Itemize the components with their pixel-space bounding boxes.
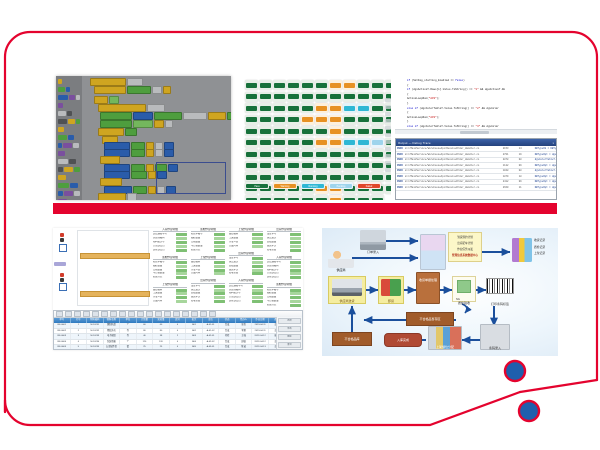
log-path: src/MainService/WarehouseApi/ReceiveOrde… (405, 163, 501, 168)
palette-item[interactable] (58, 190, 80, 196)
status-cell[interactable] (357, 195, 370, 200)
status-cell[interactable] (259, 126, 272, 136)
flow-node-label: 供应商送货 (339, 299, 354, 303)
status-cell[interactable] (245, 195, 258, 200)
note-label: 上架数量 (153, 292, 175, 295)
status-cell[interactable] (287, 80, 300, 90)
table-cell: 张伟 (236, 323, 253, 328)
status-cell[interactable] (245, 92, 258, 102)
status-cell-bar (246, 117, 257, 122)
note-group-header: 质检作业明细 (267, 283, 301, 287)
status-cell[interactable] (329, 103, 342, 113)
table-cell: 60 (137, 323, 154, 328)
status-cell[interactable] (329, 195, 342, 200)
status-cell[interactable] (273, 195, 286, 200)
status-cell[interactable] (329, 126, 342, 136)
export-icon[interactable] (182, 311, 189, 318)
table-cell: 完成 (219, 345, 236, 350)
status-cell[interactable] (245, 126, 258, 136)
log-tag: INFO (397, 152, 403, 157)
status-cell[interactable] (315, 161, 328, 171)
block-statement[interactable] (94, 86, 171, 94)
status-cell[interactable] (371, 115, 384, 125)
note-value-chip (176, 233, 187, 236)
block-statement[interactable] (100, 120, 173, 128)
palette-item[interactable] (58, 102, 80, 108)
note-group-header: 上架作业明细 (229, 228, 263, 232)
status-cell[interactable] (329, 172, 342, 182)
status-cell[interactable] (357, 172, 370, 182)
log-row[interactable]: INFOsrc/MainService/WarehouseApi/Receive… (396, 152, 556, 157)
status-cell[interactable] (371, 126, 384, 136)
status-cell[interactable] (315, 115, 328, 125)
print-icon[interactable] (83, 311, 90, 318)
palette-swatch (58, 135, 67, 140)
grid-side-tick (385, 98, 391, 102)
status-cell[interactable] (315, 172, 328, 182)
log-separator (396, 190, 556, 191)
status-cell[interactable] (371, 103, 384, 113)
status-cell-bar (288, 140, 299, 145)
note-value-chip (176, 296, 187, 299)
note-value-chip (252, 292, 263, 295)
block-chip (154, 112, 182, 120)
table-cell: 个 (120, 323, 137, 328)
status-cell-bar (274, 140, 285, 145)
table-cell: B04 (186, 340, 203, 345)
status-cell[interactable] (315, 92, 328, 102)
rail-marker-icon (60, 273, 64, 277)
note-group: 出库作业明细出库单号拣货波次复核数量发运车次签收状态 (191, 279, 225, 303)
status-cell-bar (260, 152, 271, 157)
palette-item[interactable] (58, 142, 80, 148)
status-cell[interactable] (357, 149, 370, 159)
filter-icon[interactable] (137, 311, 144, 318)
status-cell-bar (260, 198, 271, 201)
server-icon (420, 234, 446, 270)
log-path: src/MainService/WarehouseApi/ReceiveOrde… (405, 168, 501, 173)
block-chip (146, 149, 154, 157)
status-cell[interactable] (273, 115, 286, 125)
log-row[interactable]: INFOsrc/MainService/WarehouseApi/Receive… (396, 185, 556, 190)
table-cell: 钢制托盘 (104, 323, 121, 328)
note-group-header: 出库作业明细 (191, 279, 225, 283)
palette-item[interactable] (58, 86, 80, 92)
note-value-chip (176, 241, 187, 244)
status-cell[interactable] (357, 138, 370, 148)
note-row: 复核数量 (191, 292, 225, 295)
note-label: 供应商编码 (267, 265, 289, 268)
palette-swatch (67, 111, 72, 116)
block-chip (94, 86, 126, 94)
note-row: 物料批次号 (229, 292, 263, 295)
status-cell[interactable] (385, 195, 391, 200)
log-tag: INFO (397, 185, 403, 190)
palette-item[interactable] (58, 150, 80, 156)
palette-item[interactable] (58, 94, 80, 100)
table-cell: M-10234 (87, 340, 104, 345)
note-label: 物料批次号 (229, 292, 251, 295)
status-cell-bar (344, 117, 355, 122)
status-cell-bar (274, 106, 285, 111)
table-cell: B03 (186, 334, 203, 339)
barcode-icon (486, 278, 514, 294)
status-cell[interactable] (315, 138, 328, 148)
find-icon[interactable] (164, 311, 171, 318)
legend-label: Warning (274, 185, 296, 189)
note-row: 到货通知单号 (267, 261, 301, 264)
status-cell[interactable] (287, 161, 300, 171)
table-cell: 待检 (219, 334, 236, 339)
note-label: 完成时间 (191, 272, 213, 275)
status-cell[interactable] (371, 161, 384, 171)
note-value-chip (214, 237, 225, 240)
flow-node-supplier: 供应商 (328, 246, 354, 268)
flow-node-barcode-scan: 条码录入 (480, 324, 510, 350)
status-cell[interactable] (301, 103, 314, 113)
status-cell-bar (358, 198, 369, 201)
log-window-titlebar: Output — Debug Trace x (396, 139, 556, 146)
status-cell-bar (344, 129, 355, 134)
code-horizontal-scrollbar[interactable] (395, 129, 557, 134)
status-cell[interactable] (259, 161, 272, 171)
status-cell[interactable] (245, 161, 258, 171)
note-value-chip (252, 289, 263, 292)
status-cell[interactable] (343, 172, 356, 182)
note-row: 到货通知单号 (229, 285, 263, 288)
status-cell[interactable] (287, 149, 300, 159)
table-row[interactable]: RK-00055M-10235五金配件组套25250B05A-03-01完成陈诚… (54, 345, 302, 350)
note-label: 储位编码 (191, 261, 213, 264)
log-message: DBTypeOpt = dgvColorTableT.getIndexRow.T… (535, 185, 557, 190)
gantt-bar[interactable] (80, 291, 150, 297)
save-record-icon[interactable] (74, 311, 81, 318)
status-cell[interactable] (245, 80, 258, 90)
status-cell[interactable] (301, 195, 314, 200)
sort-asc-icon[interactable] (146, 311, 153, 318)
palette-swatch (58, 143, 62, 148)
status-cell[interactable] (357, 80, 370, 90)
status-cell[interactable] (301, 80, 314, 90)
note-row: 出库单号 (191, 285, 225, 288)
note-label: 发运车次 (267, 245, 289, 248)
status-cell-bar (316, 152, 327, 157)
cut-icon[interactable] (92, 311, 99, 318)
status-cell[interactable] (287, 195, 300, 200)
status-cell[interactable] (259, 92, 272, 102)
refresh-icon[interactable] (173, 311, 180, 318)
status-cell[interactable] (329, 149, 342, 159)
help-icon[interactable] (209, 311, 216, 318)
note-value-chip (290, 233, 301, 236)
note-row: 不合格数量 (191, 245, 225, 248)
status-cell[interactable] (301, 126, 314, 136)
log-row[interactable]: INFOsrc/MainService/WarehouseApi/Receive… (396, 179, 556, 184)
note-row: 拣货波次 (229, 261, 263, 264)
palette-item[interactable] (58, 118, 80, 124)
palette-item[interactable] (58, 126, 80, 132)
note-value-chip (252, 257, 263, 260)
paste-icon[interactable] (110, 311, 117, 318)
legend-label: Pending (330, 185, 352, 189)
status-cell[interactable] (371, 80, 384, 90)
table-cell: A-01-02 (203, 329, 220, 334)
table-cell: 套 (120, 345, 137, 350)
status-cell-bar (344, 175, 355, 180)
status-cell[interactable] (259, 115, 272, 125)
block-statement[interactable] (90, 78, 143, 86)
status-cell[interactable] (301, 115, 314, 125)
block-chip (98, 104, 146, 112)
status-cell[interactable] (371, 195, 384, 200)
status-cell[interactable] (273, 103, 286, 113)
status-cell[interactable] (315, 126, 328, 136)
status-cell[interactable] (273, 172, 286, 182)
status-cell[interactable] (371, 149, 384, 159)
table-side-button[interactable]: 删除 (278, 334, 301, 340)
block-statement[interactable] (98, 104, 165, 112)
status-cell[interactable] (245, 149, 258, 159)
note-value-chip (214, 300, 225, 303)
status-cell-bar (330, 152, 341, 157)
status-cell-bar (386, 83, 391, 88)
status-cell[interactable] (357, 161, 370, 171)
block-statement[interactable] (100, 178, 122, 186)
status-cell[interactable] (315, 195, 328, 200)
scrollbar-thumb[interactable] (460, 131, 489, 134)
status-cell[interactable] (301, 161, 314, 171)
status-cell[interactable] (329, 138, 342, 148)
palette-item[interactable] (58, 174, 80, 180)
status-cell[interactable] (273, 92, 286, 102)
status-cell[interactable] (259, 172, 272, 182)
grid-side-tick (385, 133, 391, 137)
status-cell-bar (372, 129, 383, 134)
table-cell: 4 (71, 340, 88, 345)
table-cell: M-10232 (87, 329, 104, 334)
note-value-chip (214, 269, 225, 272)
palette-item[interactable] (58, 134, 80, 140)
log-message: DBTypeOpt = dgvColorTableT.getIndexRow =… (535, 174, 557, 179)
status-cell[interactable] (329, 80, 342, 90)
status-cell[interactable] (259, 103, 272, 113)
status-cell-bar (358, 83, 369, 88)
status-cell[interactable] (329, 115, 342, 125)
status-cell[interactable] (273, 149, 286, 159)
status-cell[interactable] (301, 149, 314, 159)
status-cell[interactable] (343, 161, 356, 171)
gantt-grid (77, 230, 149, 306)
block-chip (100, 112, 132, 120)
status-cell[interactable] (259, 138, 272, 148)
status-cell-bar (288, 83, 299, 88)
computer-icon (360, 230, 386, 250)
status-cell[interactable] (301, 138, 314, 148)
status-cell[interactable] (287, 115, 300, 125)
palette-item[interactable] (58, 182, 80, 188)
status-cell[interactable] (301, 92, 314, 102)
log-row[interactable]: INFOsrc/MainService/WarehouseApi/Receive… (396, 163, 556, 168)
palette-item[interactable] (58, 158, 80, 164)
status-cell[interactable] (259, 195, 272, 200)
note-row: 物料批次号 (267, 269, 301, 272)
note-label: 合格数量 (191, 241, 213, 244)
log-message: dgvColorTableT.getIndexRow.ToValue = DBT… (535, 168, 557, 173)
status-cell[interactable] (245, 172, 258, 182)
status-cell-bar (330, 106, 341, 111)
log-row[interactable]: INFOsrc/MainService/WarehouseApi/Receive… (396, 174, 556, 179)
palette-item[interactable] (58, 198, 80, 200)
status-cell[interactable] (315, 103, 328, 113)
table-cell: 五金配件组 (104, 345, 121, 350)
note-label: 抽检数量 (191, 237, 213, 240)
status-cell-bar (288, 117, 299, 122)
settings-icon[interactable] (200, 311, 207, 318)
note-value-chip (252, 285, 263, 288)
status-cell[interactable] (273, 80, 286, 90)
new-record-icon[interactable] (56, 311, 63, 318)
gantt-bar[interactable] (80, 253, 150, 259)
status-cell-bar (274, 198, 285, 201)
log-tag: INFO (397, 146, 403, 151)
note-group: 入库作业明细到货通知单号供应商编码物料批次号计划到货日实际到货日 (229, 279, 263, 303)
close-icon[interactable]: x (553, 141, 554, 145)
palette-swatch (58, 183, 69, 188)
block-statement[interactable] (94, 96, 119, 104)
status-cell[interactable] (371, 92, 384, 102)
note-row: 出库单号 (267, 233, 301, 236)
block-statement[interactable] (98, 128, 137, 136)
redo-icon[interactable] (128, 311, 135, 318)
status-cell[interactable] (343, 138, 356, 148)
block-statement[interactable] (100, 156, 120, 164)
status-cell[interactable] (343, 126, 356, 136)
tag-item: 上架记录 (534, 251, 545, 255)
status-cell[interactable] (329, 92, 342, 102)
status-cell[interactable] (273, 138, 286, 148)
status-cell[interactable] (273, 126, 286, 136)
palette-item[interactable] (58, 78, 80, 84)
block-chip (90, 78, 126, 86)
table-cell: 60 (153, 323, 170, 328)
sort-desc-icon[interactable] (155, 311, 162, 318)
status-grid-side-ticks (385, 98, 391, 175)
status-cell[interactable] (245, 115, 258, 125)
flow-node-putaway: 上架储位分配 (428, 326, 462, 350)
status-cell[interactable] (385, 184, 391, 194)
status-cell[interactable] (259, 80, 272, 90)
undo-icon[interactable] (119, 311, 126, 318)
code-and-log-screenshot: if (SetImg_starting_Enabled == false){ i… (395, 76, 557, 200)
table-cell: 2 (71, 329, 88, 334)
block-statement[interactable] (98, 193, 137, 200)
status-cell-bar (260, 83, 271, 88)
table-cell: 2023-04-12 (252, 340, 269, 345)
status-cell[interactable] (385, 80, 391, 90)
status-cell-bar (344, 106, 355, 111)
status-cell[interactable] (315, 80, 328, 90)
table-side-button[interactable]: 查询 (278, 342, 301, 348)
status-cell[interactable] (343, 149, 356, 159)
note-row: 拣货波次 (191, 289, 225, 292)
tag-panel-archive: 收货记录 质检记录 上架记录 (534, 238, 545, 255)
table-cell: 25 (153, 345, 170, 350)
table-cell: 件 (120, 329, 137, 334)
status-cell[interactable] (287, 126, 300, 136)
status-cell[interactable] (371, 138, 384, 148)
status-cell-bar (358, 117, 369, 122)
status-cell-bar (372, 152, 383, 157)
table-side-button[interactable]: 新增 (278, 318, 301, 324)
status-cell[interactable] (357, 103, 370, 113)
status-cell[interactable] (343, 115, 356, 125)
status-cell[interactable] (371, 172, 384, 182)
table-cell: 电子模组 (104, 334, 121, 339)
status-cell[interactable] (329, 161, 342, 171)
status-cell[interactable] (343, 92, 356, 102)
delete-icon[interactable] (191, 311, 198, 318)
status-cell[interactable] (357, 115, 370, 125)
log-row[interactable]: INFOsrc/MainService/WarehouseApi/Receive… (396, 168, 556, 173)
palette-swatch (58, 79, 62, 84)
palette-swatch (58, 167, 63, 172)
status-cell[interactable] (343, 103, 356, 113)
legend-item: Failed (357, 182, 381, 189)
block-chip (127, 78, 143, 86)
status-cell[interactable] (357, 92, 370, 102)
open-record-icon[interactable] (65, 311, 72, 318)
status-cell[interactable] (343, 80, 356, 90)
status-cell[interactable] (245, 138, 258, 148)
status-cell[interactable] (343, 195, 356, 200)
status-cell[interactable] (301, 172, 314, 182)
log-row[interactable]: INFOsrc/MainService/WarehouseApi/Receive… (396, 157, 556, 162)
palette-item[interactable] (58, 110, 80, 116)
palette-item[interactable] (58, 166, 80, 172)
grid-side-tick (385, 105, 391, 109)
status-cell-bar (330, 140, 341, 145)
status-cell-bar (358, 175, 369, 180)
table-cell: 0 (170, 345, 187, 350)
log-row[interactable]: INFOsrc/MainService/WarehouseApi/Receive… (396, 146, 556, 151)
status-cell-bar (358, 163, 369, 168)
blocks-canvas (82, 76, 231, 200)
grid-side-tick (385, 154, 391, 158)
status-cell[interactable] (357, 126, 370, 136)
copy-icon[interactable] (101, 311, 108, 318)
status-cell[interactable] (315, 149, 328, 159)
table-side-button[interactable]: 修改 (278, 326, 301, 332)
note-value-chip (176, 292, 187, 295)
status-cell[interactable] (273, 161, 286, 171)
status-cell[interactable] (259, 149, 272, 159)
table-cell: 件 (120, 334, 137, 339)
status-cell[interactable] (245, 103, 258, 113)
status-cell-bar (246, 152, 257, 157)
status-cell[interactable] (287, 138, 300, 148)
note-row: 作业人员 (153, 296, 187, 299)
block-statement[interactable] (100, 112, 231, 120)
block-chip (147, 104, 165, 112)
truck-icon (332, 279, 362, 296)
note-label: 抽检数量 (267, 292, 289, 295)
status-cell[interactable] (287, 92, 300, 102)
status-cell[interactable] (287, 103, 300, 113)
status-cell[interactable] (287, 172, 300, 182)
palette-swatch (64, 191, 73, 196)
status-cell-bar (316, 129, 327, 134)
note-value-chip (176, 289, 187, 292)
